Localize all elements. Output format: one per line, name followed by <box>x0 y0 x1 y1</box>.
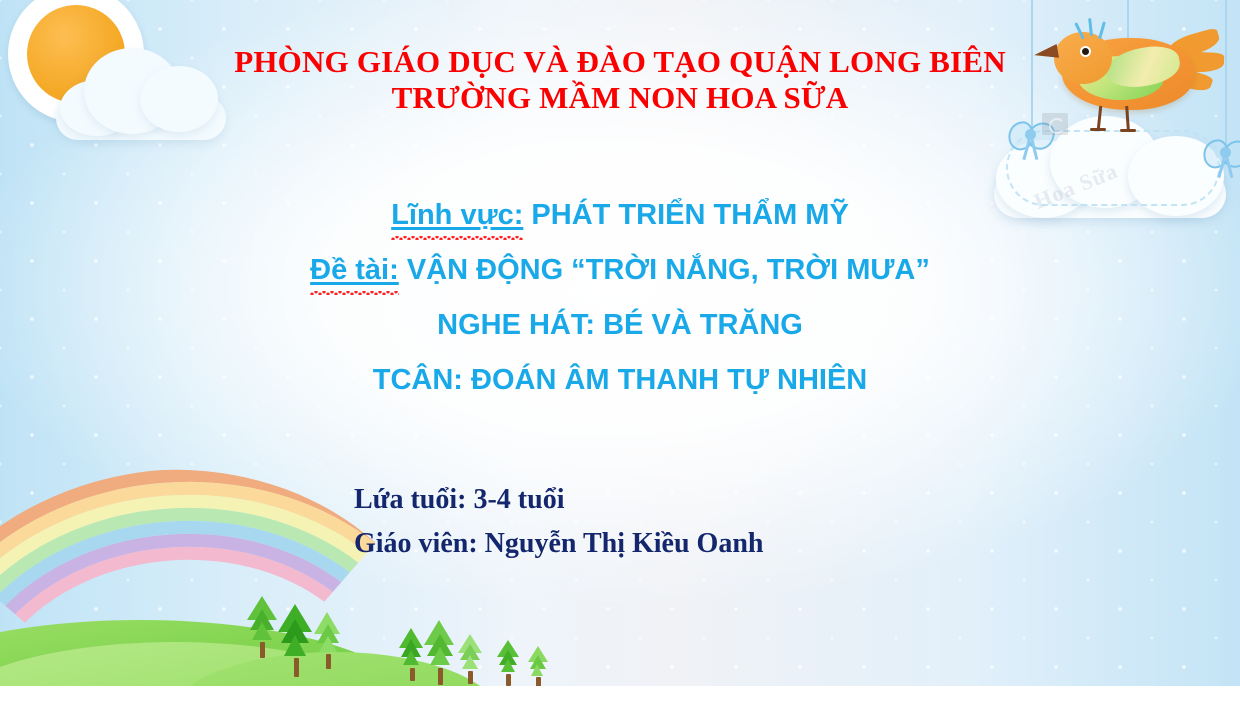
detail-label: Đề tài: <box>310 254 399 286</box>
detail-line-game: TCÂN: ĐOÁN ÂM THANH TỰ NHIÊN <box>0 353 1240 408</box>
detail-value: TCÂN: ĐOÁN ÂM THANH TỰ NHIÊN <box>373 364 867 396</box>
detail-value: PHÁT TRIỂN THẨM MỸ <box>523 199 848 231</box>
lesson-details: Lĩnh vực: PHÁT TRIỂN THẨM MỸ Đề tài: VẬN… <box>0 188 1240 408</box>
detail-value: NGHE HÁT: BÉ VÀ TRĂNG <box>437 309 803 341</box>
slide-canvas: Hoa Sữa PHÒNG GIÁO DỤC VÀ ĐÀO TẠO QUẬN L… <box>0 0 1240 686</box>
letterbox-bar <box>0 686 1240 720</box>
detail-line-song: NGHE HÁT: BÉ VÀ TRĂNG <box>0 298 1240 353</box>
detail-label: Lĩnh vực: <box>391 199 523 231</box>
broken-image-icon <box>1042 113 1068 135</box>
detail-value: VẬN ĐỘNG “TRỜI NẮNG, TRỜI MƯA” <box>399 254 930 286</box>
detail-line-topic: Đề tài: VẬN ĐỘNG “TRỜI NẮNG, TRỜI MƯA” <box>0 243 1240 298</box>
detail-line-field: Lĩnh vực: PHÁT TRIỂN THẨM MỸ <box>0 188 1240 243</box>
page-title: PHÒNG GIÁO DỤC VÀ ĐÀO TẠO QUẬN LONG BIÊN… <box>0 44 1240 116</box>
class-info: Lứa tuổi: 3-4 tuổi Giáo viên: Nguyễn Thị… <box>354 478 763 566</box>
